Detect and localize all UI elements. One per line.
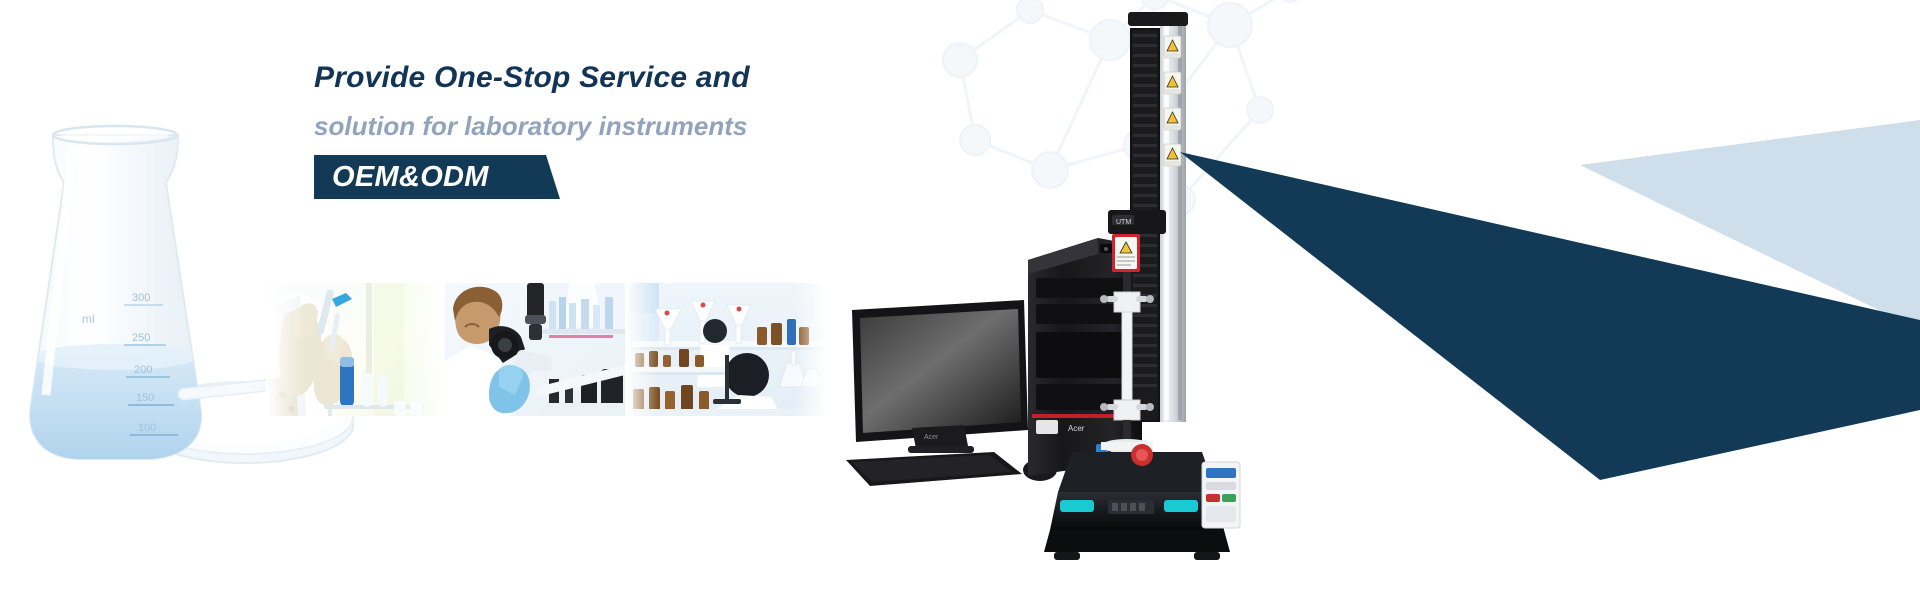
svg-text:250: 250	[132, 332, 150, 344]
svg-text:100: 100	[138, 422, 156, 434]
photo-lab-bench	[629, 283, 824, 416]
photo-microscope	[445, 283, 625, 416]
svg-text:ml: ml	[82, 312, 95, 326]
product-photo-group: Acer	[840, 0, 1360, 597]
svg-text:200: 200	[134, 364, 152, 376]
desktop-computer-photo: Acer	[846, 238, 1142, 486]
load-cell-label	[1112, 234, 1140, 272]
promo-banner: 300 250 200 150 100 ml Provide One-Stop …	[0, 0, 1920, 597]
badge-label: OEM&ODM	[332, 161, 489, 194]
light-triangle-shape	[1580, 120, 1920, 330]
lab-photo-strip	[266, 283, 824, 416]
warning-label-icon	[1164, 108, 1181, 130]
svg-text:300: 300	[132, 292, 150, 304]
photo-pipetting	[266, 283, 441, 416]
svg-text:Acer: Acer	[1068, 424, 1085, 433]
warning-label-icon	[1164, 144, 1181, 166]
svg-text:UTM: UTM	[1116, 219, 1131, 226]
svg-text:Acer: Acer	[924, 434, 939, 441]
oem-odm-badge: OEM&ODM	[314, 155, 560, 199]
warning-label-icon	[1164, 36, 1181, 58]
svg-text:150: 150	[136, 392, 154, 404]
warning-label-icon	[1164, 72, 1181, 94]
